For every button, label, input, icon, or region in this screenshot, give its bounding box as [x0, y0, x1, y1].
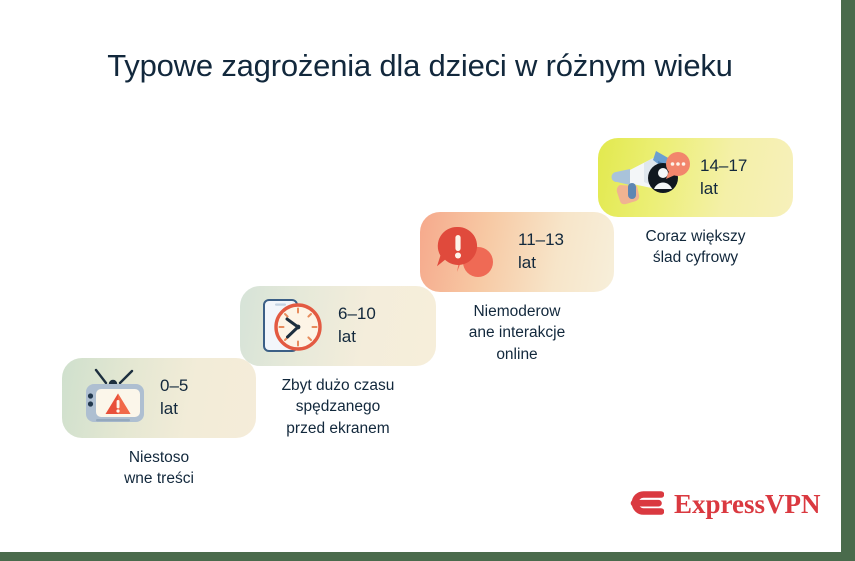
phone-clock-icon: [254, 294, 328, 358]
expressvpn-wordmark: ExpressVPN: [674, 491, 821, 518]
megaphone-profile-icon: [606, 145, 692, 211]
frame-bar-bottom: [0, 552, 855, 561]
speech-bubbles-alert-icon: [434, 221, 504, 283]
frame-bar-right: [841, 0, 855, 561]
expressvpn-e-mark-icon: [630, 487, 664, 521]
age-card-11-13: 11–13 lat: [420, 212, 614, 292]
step-caption: Zbyt dużo czasu spędzanego przed ekranem: [240, 375, 436, 439]
step-caption: Coraz większy ślad cyfrowy: [598, 226, 793, 269]
expressvpn-logo: ExpressVPN: [630, 487, 821, 521]
age-label: 6–10 lat: [338, 303, 376, 349]
step-item-14-17: 14–17 lat Coraz większy ślad cyfrowy: [598, 138, 793, 269]
step-caption: Niestoso wne treści: [62, 447, 256, 490]
age-label: 11–13 lat: [518, 229, 564, 275]
age-card-6-10: 6–10 lat: [240, 286, 436, 366]
age-label: 0–5 lat: [160, 375, 188, 421]
age-card-0-5: 0–5 lat: [62, 358, 256, 438]
age-label: 14–17 lat: [700, 155, 747, 201]
step-item-0-5: 0–5 lat Niestoso wne treści: [62, 358, 256, 490]
age-card-14-17: 14–17 lat: [598, 138, 793, 217]
page-title: Typowe zagrożenia dla dzieci w różnym wi…: [0, 48, 840, 84]
step-item-6-10: 6–10 lat Zbyt dużo czasu spędzanego prze…: [240, 286, 436, 439]
step-caption: Niemoderow ane interakcje online: [420, 301, 614, 365]
tv-warning-icon: [76, 367, 150, 429]
step-item-11-13: 11–13 lat Niemoderow ane interakcje onli…: [420, 212, 614, 365]
